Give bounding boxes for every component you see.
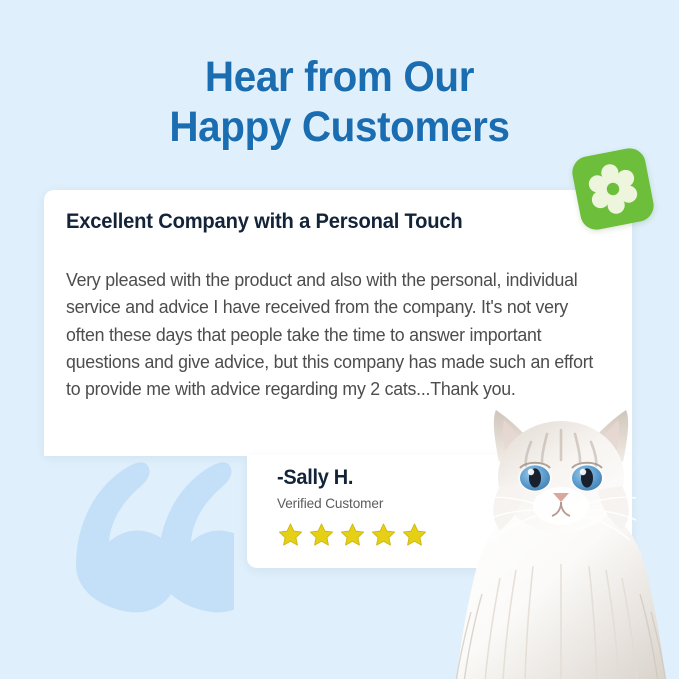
page-title: Hear from Our Happy Customers: [20, 52, 658, 152]
review-body: Very pleased with the product and also w…: [66, 266, 595, 402]
flower-badge: [570, 146, 657, 233]
star-icon: [370, 522, 397, 548]
star-icon: [401, 522, 428, 548]
page-title-line-1: Hear from Our: [20, 52, 658, 102]
verified-customer-label: Verified Customer: [277, 493, 423, 513]
quotation-mark-icon: [64, 430, 234, 630]
star-rating: [277, 522, 428, 548]
reviewer-name: -Sally H.: [277, 465, 420, 490]
star-icon: [308, 522, 335, 548]
testimonial-section: Hear from Our Happy Customers Excellent …: [0, 0, 679, 679]
flower-icon: [583, 159, 644, 220]
review-title: Excellent Company with a Personal Touch: [66, 210, 463, 234]
page-title-line-2: Happy Customers: [20, 102, 658, 152]
attribution-block: -Sally H. Verified Customer: [277, 465, 428, 548]
star-icon: [277, 522, 304, 548]
review-body-text: Very pleased with the product and also w…: [66, 266, 595, 402]
star-icon: [339, 522, 366, 548]
